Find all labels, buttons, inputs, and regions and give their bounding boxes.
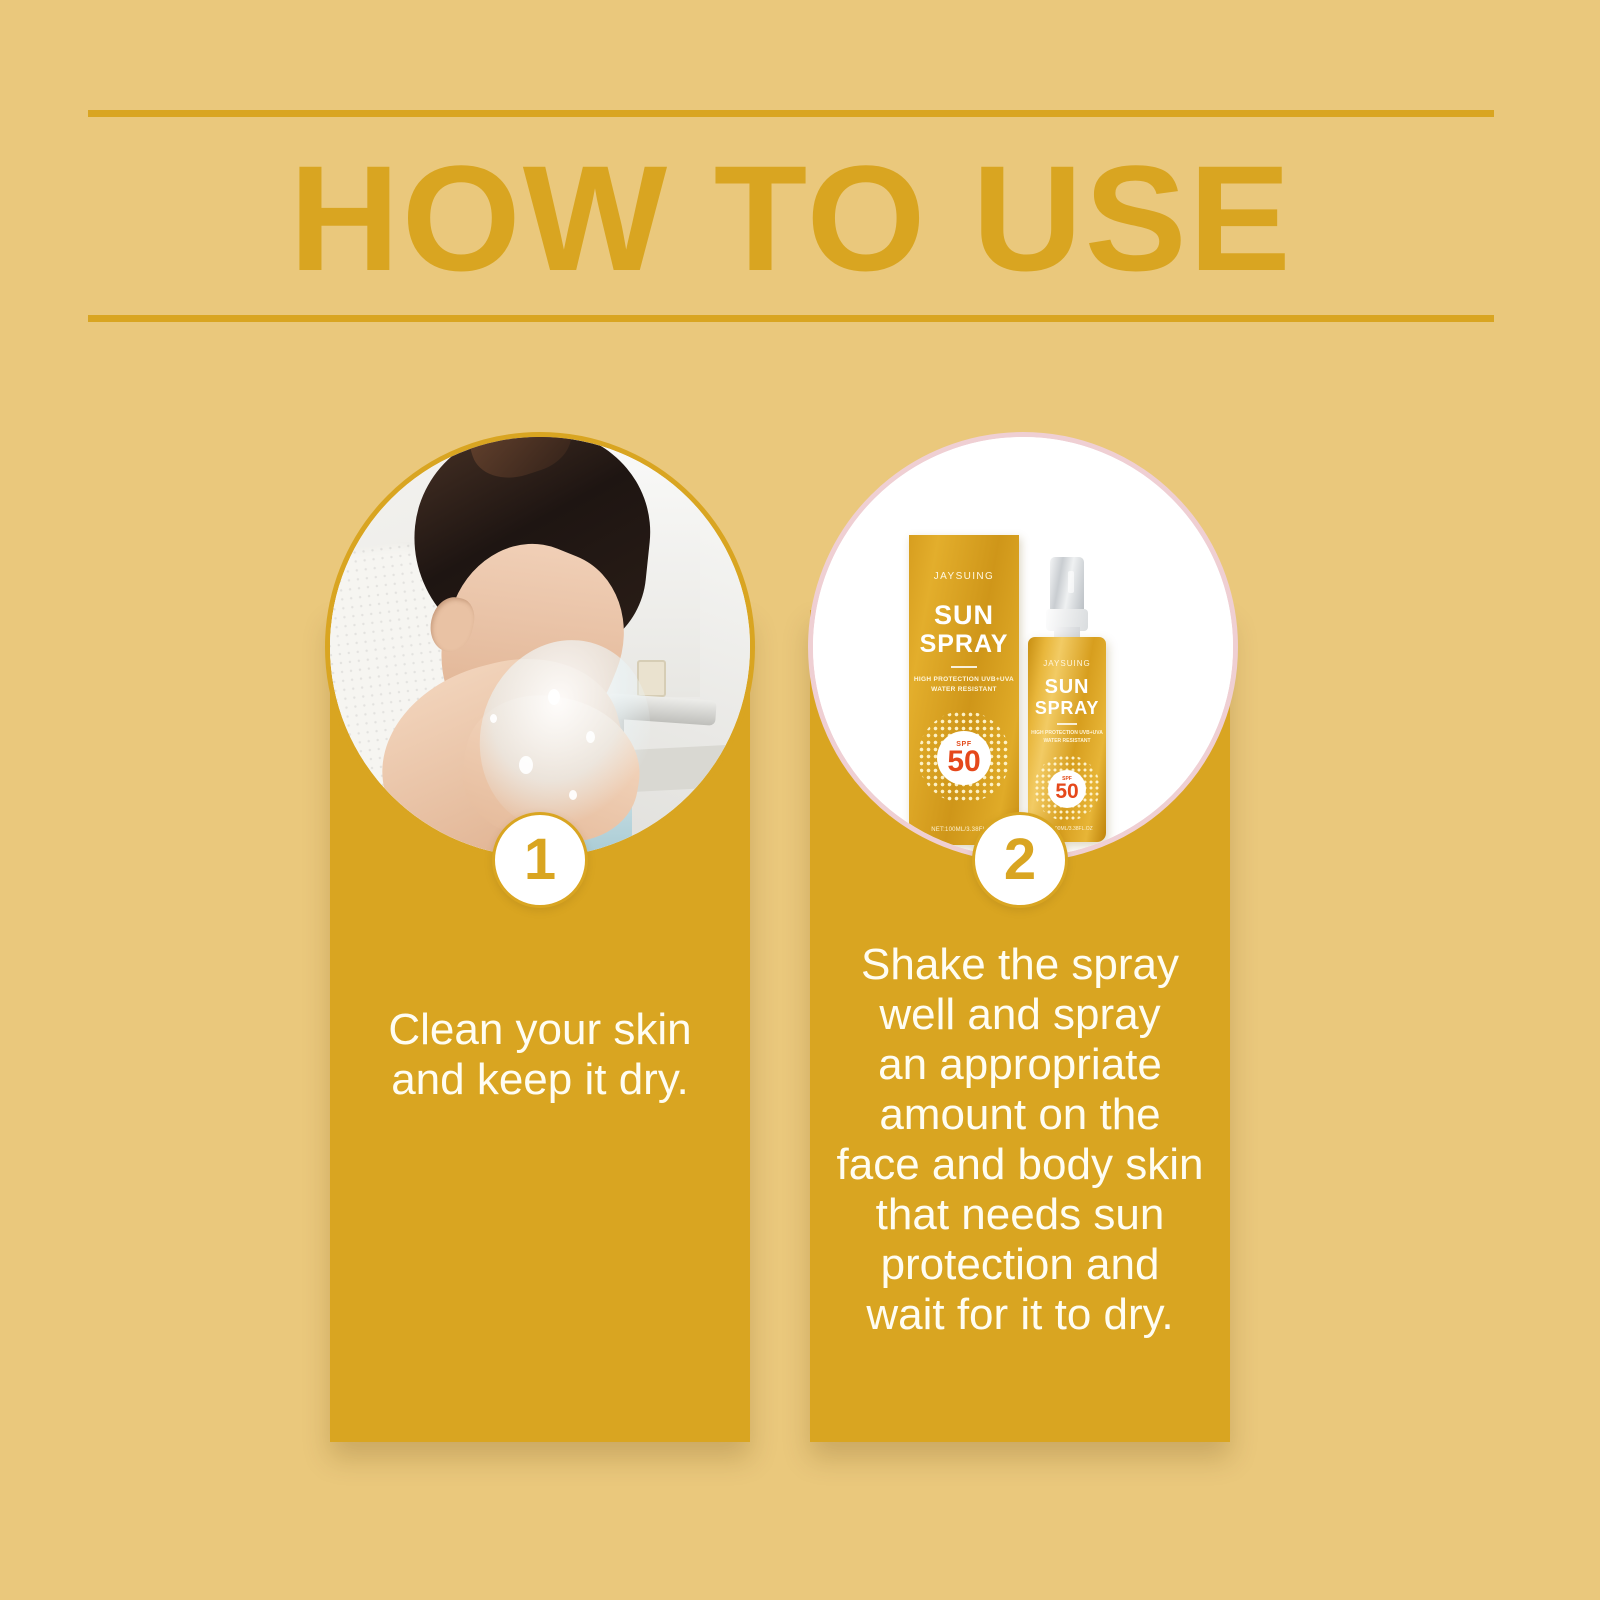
box-spf-value: 50 [947, 748, 980, 776]
bottle-spf-badge: SPF 50 [1048, 770, 1086, 808]
box-name-line2: SPRAY [909, 631, 1019, 657]
step-1-number-badge: 1 [492, 812, 588, 908]
step-2-caption: Shake the spray well and spray an approp… [818, 940, 1222, 1340]
how-to-use-infographic: HOW TO USE Clean your skin and keep it d… [0, 0, 1600, 1600]
bottle-name-line1: SUN [1028, 677, 1106, 698]
product-box: JAYSUING SUN SPRAY HIGH PROTECTION UVB+U… [909, 535, 1019, 845]
bottle-body: JAYSUING SUN SPRAY HIGH PROTECTION UVB+U… [1028, 637, 1106, 842]
box-brand-label: JAYSUING [909, 571, 1019, 582]
sun-spray-product-photo: JAYSUING SUN SPRAY HIGH PROTECTION UVB+U… [813, 437, 1233, 857]
box-claim-text: HIGH PROTECTION UVB+UVA WATER RESISTANT [909, 675, 1019, 695]
bottle-divider [1057, 723, 1077, 725]
cap-highlight [1068, 571, 1074, 593]
water-droplet [490, 714, 497, 723]
woman-washing-face-photo [330, 437, 750, 857]
box-spf-badge: SPF 50 [937, 731, 991, 785]
spray-cap [1050, 557, 1084, 613]
bottle-spf-value: 50 [1055, 782, 1078, 802]
bottle-name-line2: SPRAY [1028, 699, 1106, 718]
steps-container: Clean your skin and keep it dry. Shake t… [0, 0, 1600, 1600]
step-1-caption: Clean your skin and keep it dry. [338, 1005, 742, 1105]
bottle-brand-label: JAYSUING [1028, 659, 1106, 668]
bottle-claim-text: HIGH PROTECTION UVB+UVA WATER RESISTANT [1028, 729, 1106, 745]
step-1-photo-circle [325, 432, 755, 862]
product-bottle: JAYSUING SUN SPRAY HIGH PROTECTION UVB+U… [1028, 557, 1106, 842]
step-2-number-badge: 2 [972, 812, 1068, 908]
step-2-photo-circle: JAYSUING SUN SPRAY HIGH PROTECTION UVB+U… [808, 432, 1238, 862]
box-name-line1: SUN [909, 601, 1019, 629]
box-divider [951, 666, 977, 668]
